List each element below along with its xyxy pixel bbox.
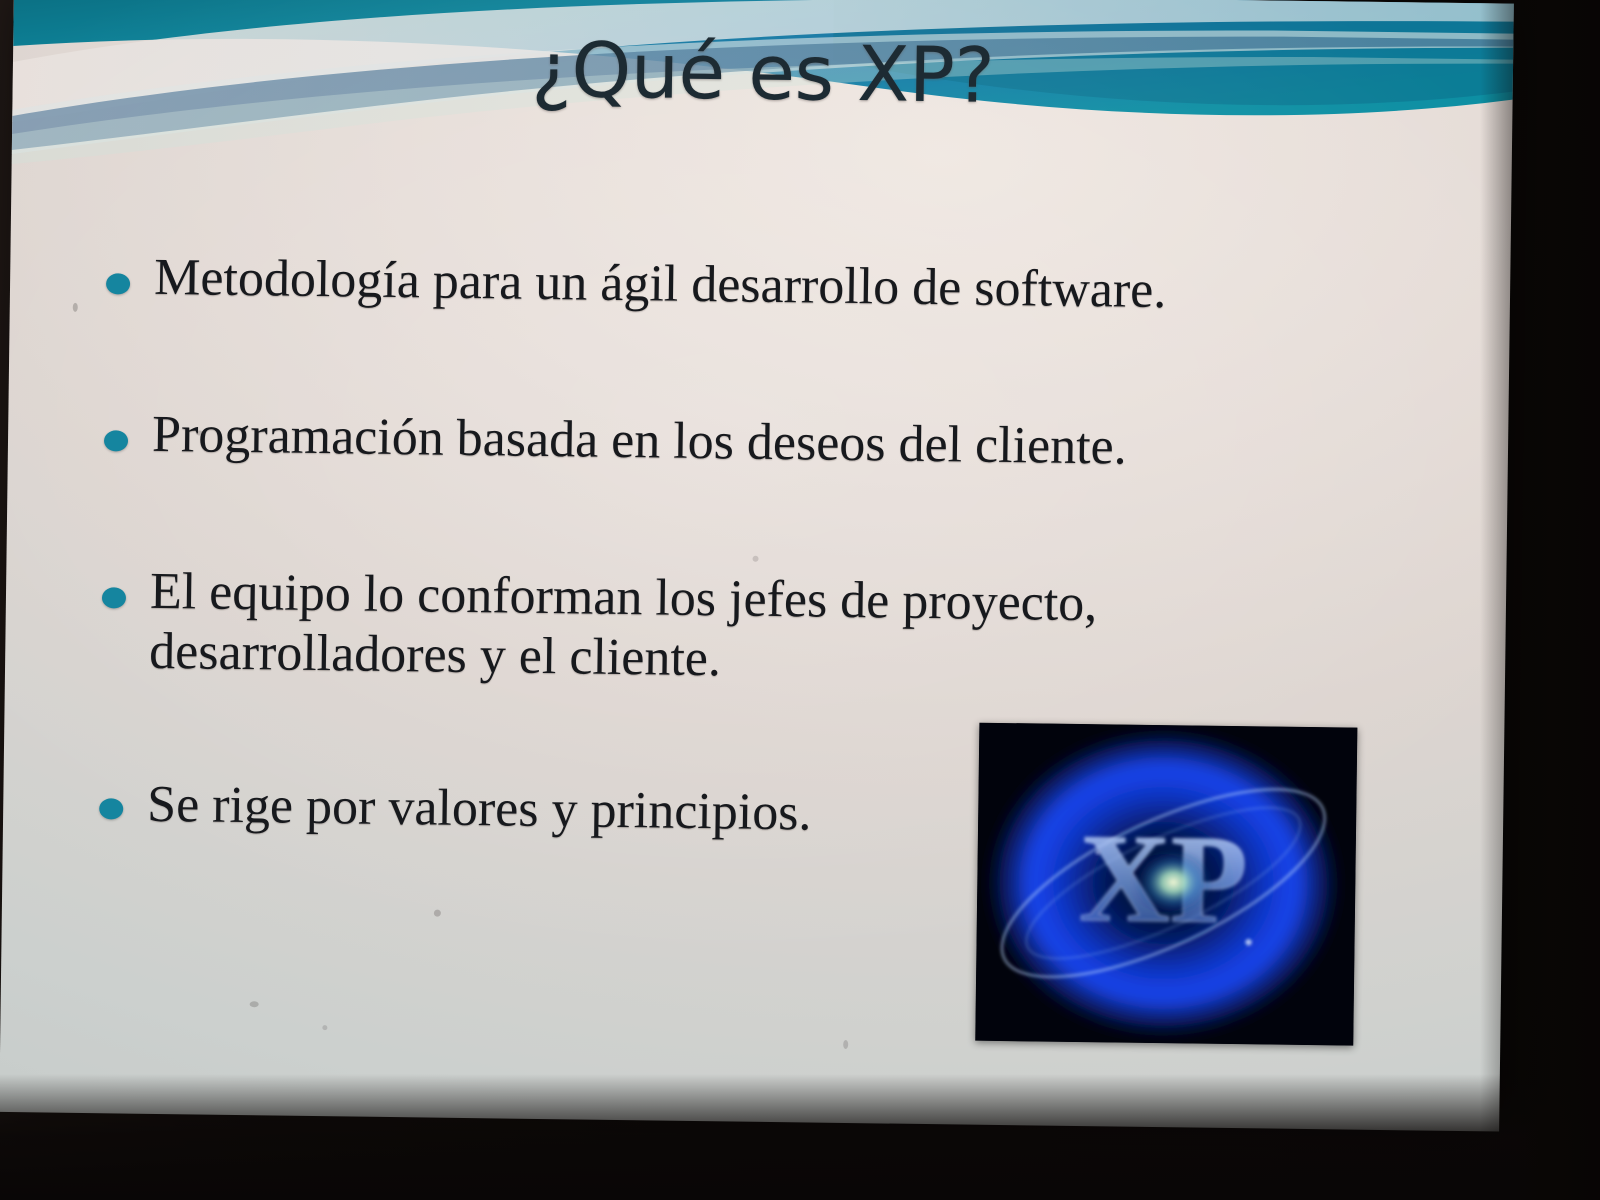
bullet-dot-icon: [106, 273, 130, 294]
bullet-dot-icon: [104, 430, 128, 451]
projected-slide-photo: ¿Qué es XP? Metodología para un ágil des…: [0, 0, 1600, 1200]
bullet-text: Metodología para un ágil desarrollo de s…: [154, 248, 1407, 325]
screen-speck: [753, 556, 759, 562]
bullet-dot-icon: [102, 587, 126, 608]
bullet-item: El equipo lo conforman los jefes de proy…: [101, 561, 1402, 700]
screen-speck: [843, 1040, 848, 1049]
bullet-text: El equipo lo conforman los jefes de proy…: [149, 561, 1151, 696]
screen-speck: [73, 303, 78, 312]
screen-speck: [196, 430, 203, 435]
xp-logo-image: XP: [975, 723, 1357, 1046]
screen-speck: [322, 1025, 327, 1030]
bullet-item: Metodología para un ágil desarrollo de s…: [106, 247, 1407, 325]
bullet-dot-icon: [99, 798, 123, 819]
bullet-text: Programación basada en los deseos del cl…: [152, 405, 1405, 482]
screen-speck: [434, 910, 441, 917]
bullet-item: Programación basada en los deseos del cl…: [104, 404, 1405, 482]
presentation-slide: ¿Qué es XP? Metodología para un ágil des…: [0, 0, 1514, 1132]
screen-speck: [250, 1001, 259, 1007]
